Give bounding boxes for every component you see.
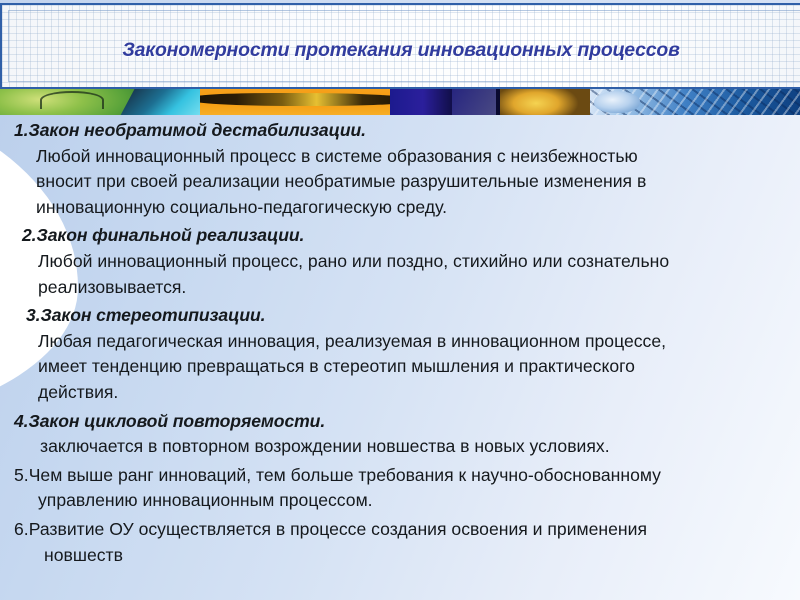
list-item-line: новшеств [44, 543, 800, 569]
list-item-number: 5. [14, 465, 29, 485]
list-item-line: действия. [38, 380, 800, 406]
list-item: 2.Закон финальной реализации. Любой инно… [22, 223, 800, 300]
strip-segment-green-leaf-photo [0, 89, 200, 115]
list-item-line: заключается в повторном возрождении новш… [40, 434, 800, 460]
list-item-heading: Чем выше ранг инноваций, тем больше треб… [29, 465, 661, 485]
strip-segment-orange-hardware-photo [200, 89, 390, 115]
list-item-line: инновационную социально-педагогическую с… [36, 195, 800, 221]
list-item-number: 3. [26, 305, 40, 325]
content-list: 1.Закон необратимой дестабилизации. Любо… [0, 118, 800, 588]
list-item-heading: Закон стереотипизации. [40, 305, 265, 325]
list-item: 1.Закон необратимой дестабилизации. Любо… [14, 118, 800, 220]
list-item-heading: Развитие ОУ осуществляется в процессе со… [29, 519, 647, 539]
list-item-heading: Закон цикловой повторяемости. [28, 411, 325, 431]
list-item-line: реализовывается. [38, 275, 800, 301]
strip-segment-yellow-closeup-photo [500, 89, 590, 115]
list-item: 5.Чем выше ранг инноваций, тем больше тр… [14, 463, 800, 514]
list-item: 3.Закон стереотипизации. Любая педагогич… [26, 303, 800, 405]
list-item: 4.Закон цикловой повторяемости. заключае… [14, 409, 800, 460]
photo-strip [0, 89, 800, 115]
list-item-line: вносит при своей реализации необратимые … [36, 169, 800, 195]
list-item: 6.Развитие ОУ осуществляется в процессе … [14, 517, 800, 568]
slide: Закономерности протекания инновационных … [0, 0, 800, 600]
list-item-number: 2. [22, 225, 36, 245]
list-item-number: 4. [14, 411, 28, 431]
list-item-line: Любой инновационный процесс, рано или по… [38, 249, 800, 275]
strip-segment-dark-blue-photo [390, 89, 500, 115]
list-item-line: управлению инновационным процессом. [38, 488, 800, 514]
list-item-line: Любая педагогическая инновация, реализуе… [38, 329, 800, 355]
page-title: Закономерности протекания инновационных … [2, 39, 800, 62]
list-item-number: 6. [14, 519, 29, 539]
list-item-heading: Закон необратимой дестабилизации. [28, 120, 366, 140]
header-panel: Закономерности протекания инновационных … [0, 3, 800, 89]
strip-segment-blue-keyboard-photo [590, 89, 800, 115]
list-item-heading: Закон финальной реализации. [36, 225, 304, 245]
list-item-number: 1. [14, 120, 28, 140]
list-item-line: имеет тенденцию превращаться в стереотип… [38, 354, 800, 380]
list-item-line: Любой инновационный процесс в системе об… [36, 144, 800, 170]
